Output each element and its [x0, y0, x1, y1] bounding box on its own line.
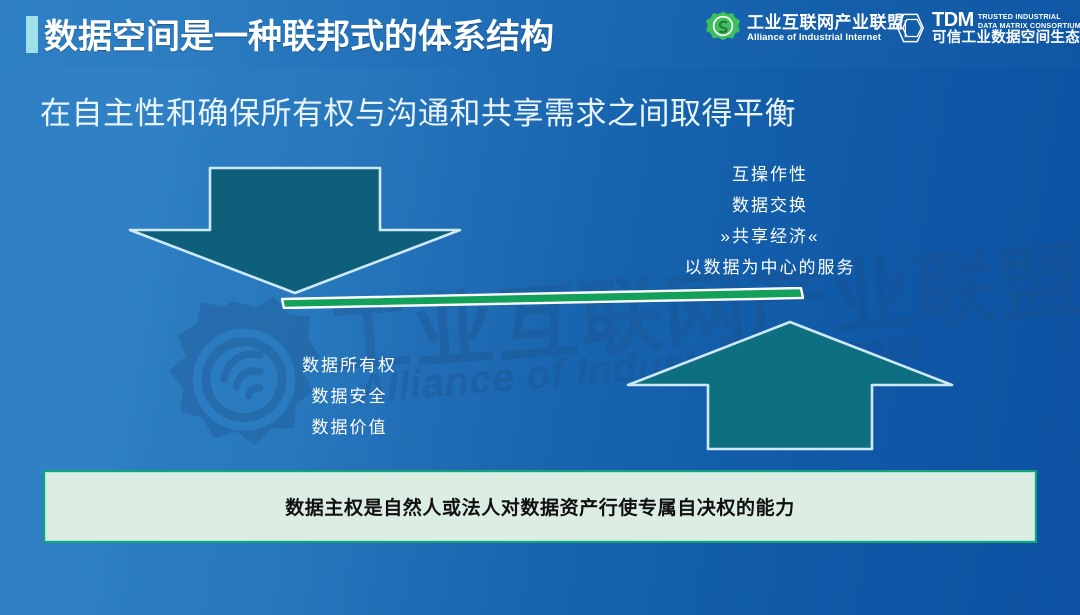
definition-callout-box: 数据主权是自然人或法人对数据资产行使专属自决权的能力 — [43, 470, 1037, 543]
balance-beam — [281, 287, 804, 309]
gear-logo-icon — [706, 11, 740, 45]
up-arrow — [620, 316, 960, 456]
list-item: 以数据为中心的服务 — [645, 252, 895, 283]
slide-canvas: 工业互联网产业联盟 Alliance of Industrial Interne… — [0, 0, 1080, 615]
alliance-of-industrial-internet-logo: 工业互联网产业联盟 Alliance of Industrial Interne… — [706, 10, 905, 46]
tdm-hexagon-icon — [894, 11, 926, 45]
list-item: 互操作性 — [645, 159, 895, 190]
list-item: »共享经济« — [645, 221, 895, 252]
tdm-logo: TDM TRUSTED INDUSTRIAL DATA MATRIX CONSO… — [894, 10, 1080, 46]
tdm-logo-cn: 可信工业数据空间生态链 — [932, 31, 1080, 46]
slide-header: 数据空间是一种联邦式的体系结构 工业互联网产业联盟 Alliance of In… — [0, 0, 1080, 68]
page-title: 数据空间是一种联邦式的体系结构 — [44, 9, 554, 58]
list-item: 数据安全 — [262, 381, 437, 412]
aii-logo-en: Alliance of Industrial Internet — [747, 33, 905, 43]
left-attribute-list: 数据所有权 数据安全 数据价值 — [262, 350, 437, 443]
right-attribute-list: 互操作性 数据交换 »共享经济« 以数据为中心的服务 — [645, 159, 895, 283]
list-item: 数据所有权 — [262, 350, 437, 381]
list-item: 数据价值 — [262, 412, 437, 443]
list-item: 数据交换 — [645, 190, 895, 221]
title-accent-bar — [26, 16, 38, 53]
aii-logo-cn: 工业互联网产业联盟 — [747, 14, 905, 31]
callout-text: 数据主权是自然人或法人对数据资产行使专属自决权的能力 — [285, 493, 795, 520]
down-arrow — [120, 163, 470, 298]
tdm-logo-letters: TDM — [932, 11, 974, 30]
tdm-logo-en-line2: DATA MATRIX CONSORTIUM — [978, 21, 1080, 30]
slide-subtitle: 在自主性和确保所有权与沟通和共享需求之间取得平衡 — [40, 88, 796, 133]
tdm-logo-en-line1: TRUSTED INDUSTRIAL — [978, 12, 1080, 21]
